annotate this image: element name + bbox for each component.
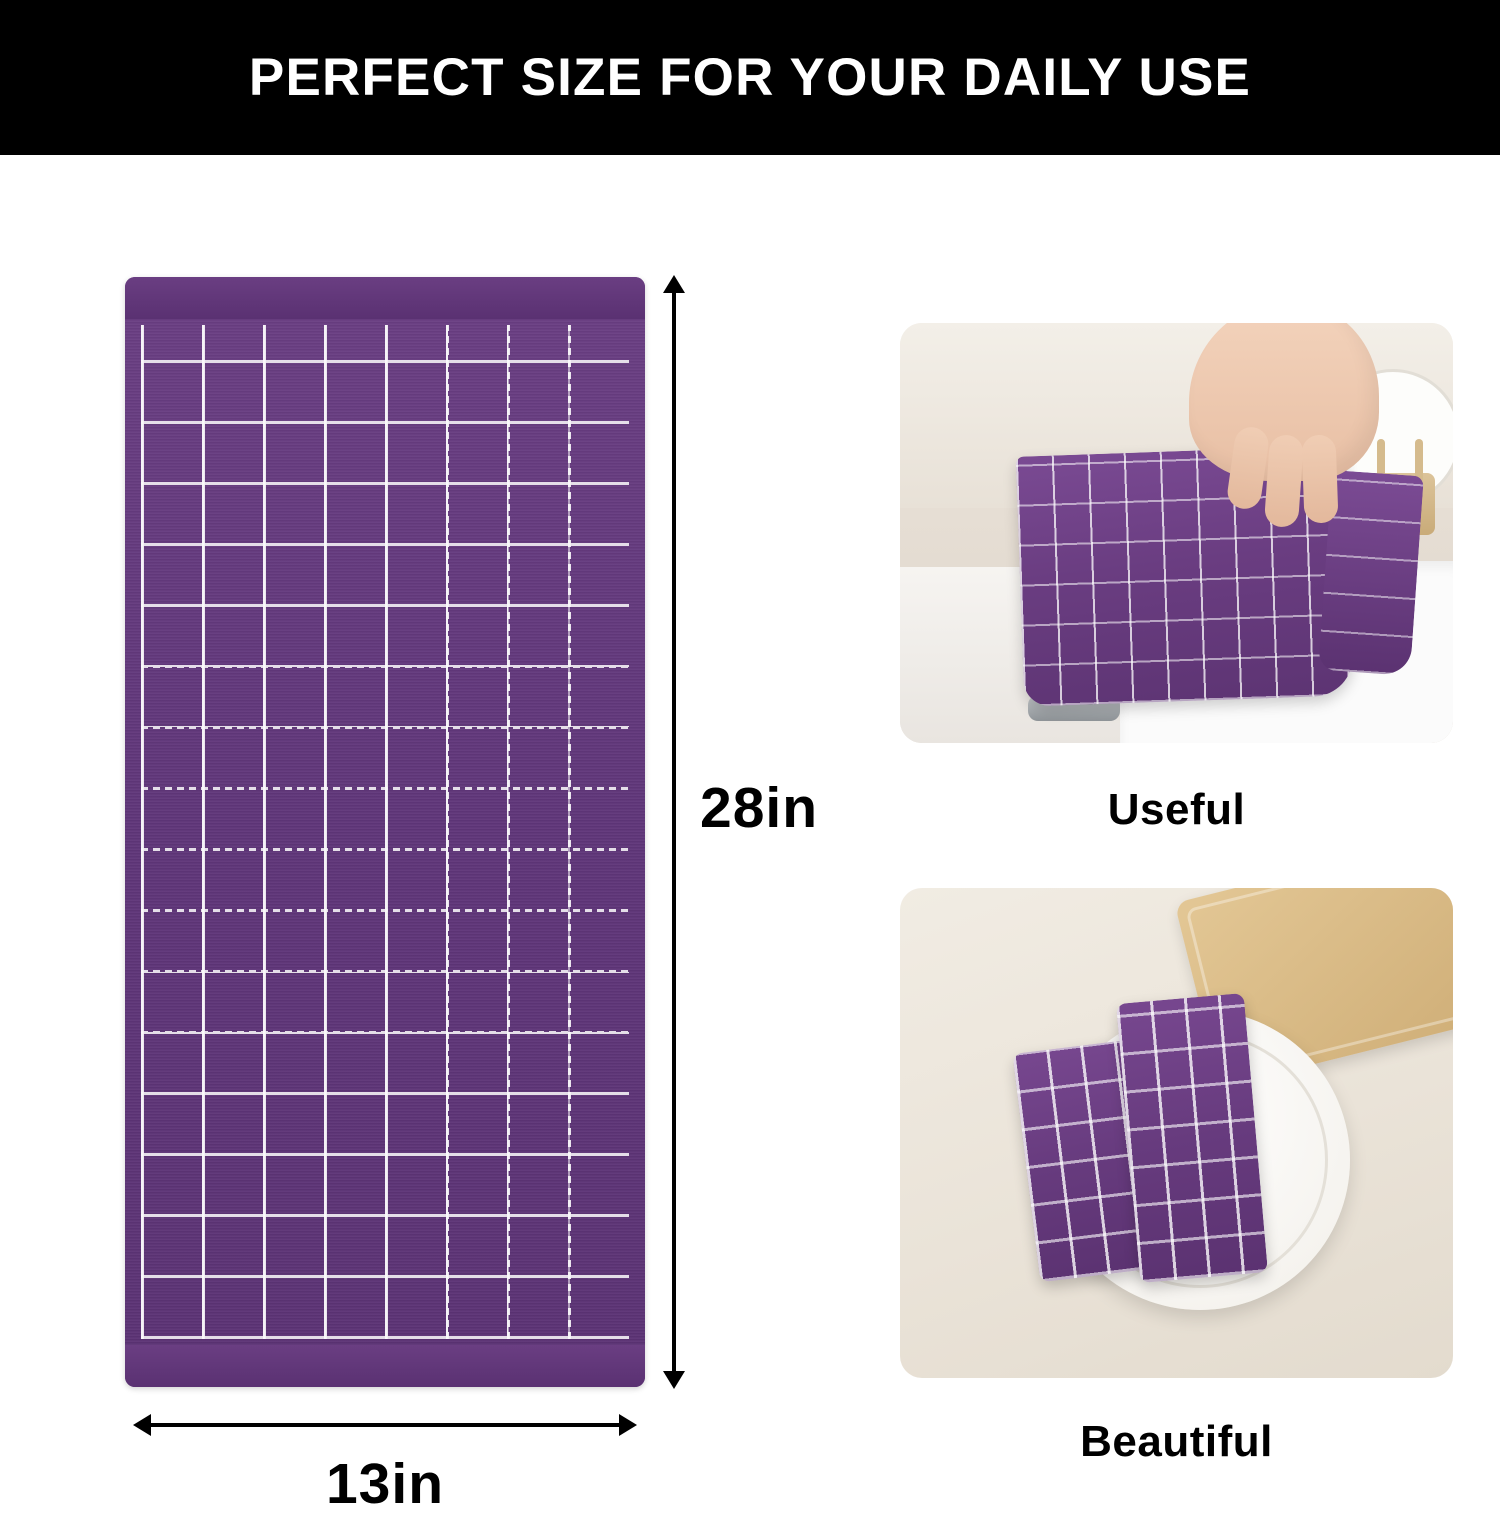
- scene-kitchen-sink: [900, 323, 1453, 743]
- dimension-rule-vertical: [672, 287, 676, 1377]
- towel-body: [125, 277, 645, 1387]
- main-stage: 28in 13in Useful: [0, 155, 1500, 1486]
- scene-counter-top: [900, 888, 1453, 1378]
- finger: [1264, 434, 1304, 528]
- width-dimension-line: [135, 1423, 635, 1425]
- photo-card-useful: [900, 323, 1453, 743]
- height-dimension-line: [672, 277, 674, 1387]
- product-towel-image: [125, 277, 645, 1387]
- width-dimension-label: 13in: [135, 1451, 635, 1517]
- arrow-right-icon: [619, 1414, 637, 1436]
- photo-card-beautiful: [900, 888, 1453, 1378]
- page-title: PERFECT SIZE FOR YOUR DAILY USE: [249, 47, 1251, 108]
- finger: [1301, 434, 1338, 523]
- towel-hem-top: [125, 277, 645, 319]
- towel-hem-bottom: [125, 1345, 645, 1387]
- dimension-rule-horizontal: [145, 1423, 625, 1427]
- caption-useful: Useful: [900, 785, 1453, 835]
- height-dimension-label: 28in: [700, 775, 818, 841]
- caption-beautiful: Beautiful: [900, 1417, 1453, 1467]
- folded-towel: [1116, 993, 1268, 1283]
- header-banner: PERFECT SIZE FOR YOUR DAILY USE: [0, 0, 1500, 155]
- arrow-down-icon: [663, 1371, 685, 1389]
- towel-grid-vertical-lines: [141, 325, 629, 1339]
